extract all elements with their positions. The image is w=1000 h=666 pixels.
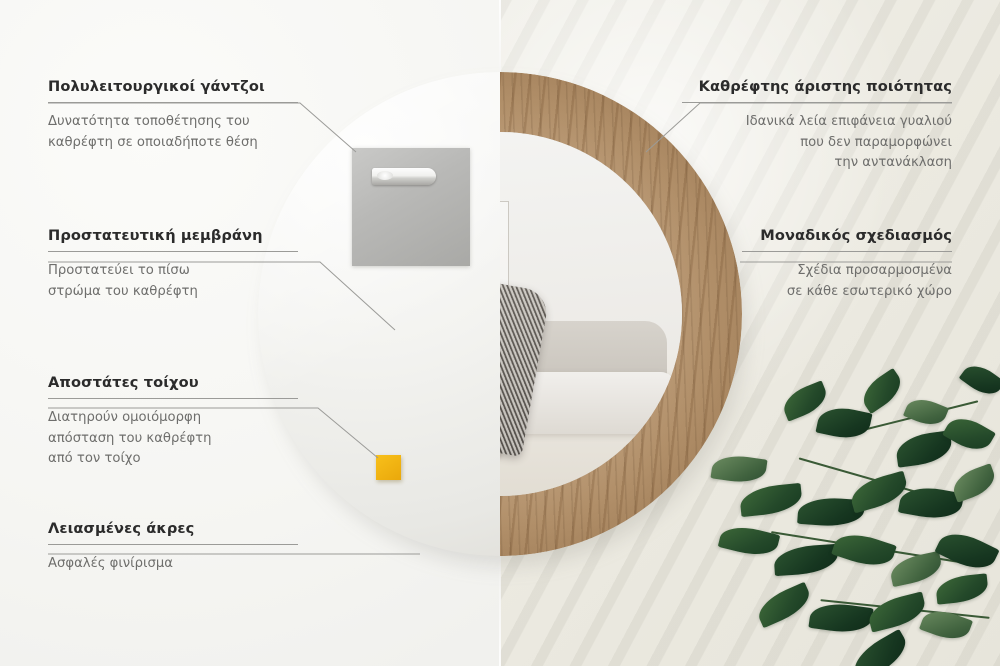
leaf (903, 393, 949, 430)
leaf (935, 573, 989, 604)
callout-rule (48, 251, 298, 252)
callout-rule (742, 251, 952, 252)
mirror-product (258, 72, 742, 556)
leaf (815, 403, 872, 443)
leaf (718, 521, 781, 560)
mirror-glass (500, 132, 682, 496)
hook-detail-patch (352, 148, 470, 266)
callout-rule (48, 544, 298, 545)
callout-title: Μοναδικός σχεδιασμός (742, 227, 952, 244)
callout-description: Δυνατότητα τοποθέτησης τουκαθρέφτη σε οπ… (48, 112, 298, 153)
callout-description: Διατηρούν ομοιόμορφηαπόσταση του καθρέφτ… (48, 408, 298, 470)
leaf (959, 359, 1000, 402)
callout-title: Λειασμένες άκρες (48, 520, 298, 537)
callout-description: Προστατεύει το πίσωστρώμα του καθρέφτη (48, 261, 298, 302)
mirror-body (258, 72, 742, 556)
leaf (831, 527, 897, 572)
wall-spacer-marker (376, 455, 401, 480)
leaf (888, 551, 944, 587)
callout-protective-membrane: Προστατευτική μεμβράνη Προστατεύει το πί… (48, 227, 298, 302)
leaf (856, 368, 907, 414)
callout-title: Καθρέφτης άριστης ποιότητας (682, 78, 952, 95)
callout-multifunctional-hooks: Πολυλειτουργικοί γάντζοι Δυνατότητα τοπο… (48, 78, 298, 153)
leaf (739, 483, 804, 517)
callout-description: Σχέδια προσαρμοσμένασε κάθε εσωτερικό χώ… (742, 261, 952, 302)
callout-top-quality-mirror: Καθρέφτης άριστης ποιότητας Ιδανικά λεία… (682, 78, 952, 174)
callout-polished-edges: Λειασμένες άκρες Ασφαλές φινίρισμα (48, 520, 298, 575)
decorative-foliage (700, 360, 1000, 666)
wall-hook-icon (372, 168, 436, 185)
callout-rule (48, 398, 298, 399)
leaf (942, 410, 996, 457)
callout-description: Ασφαλές φινίρισμα (48, 554, 298, 575)
leaf (773, 544, 839, 576)
leaf (949, 463, 999, 502)
callout-title: Αποστάτες τοίχου (48, 374, 298, 391)
leaf (710, 452, 767, 485)
infographic-canvas: Πολυλειτουργικοί γάντζοι Δυνατότητα τοπο… (0, 0, 1000, 666)
callout-rule (682, 102, 952, 103)
callout-title: Προστατευτική μεμβράνη (48, 227, 298, 244)
leaf (934, 525, 999, 577)
callout-wall-spacers: Αποστάτες τοίχου Διατηρούν ομοιόμορφηαπό… (48, 374, 298, 470)
callout-unique-design: Μοναδικός σχεδιασμός Σχέδια προσαρμοσμέν… (742, 227, 952, 302)
leaf (753, 582, 815, 629)
callout-rule (48, 102, 298, 103)
leaf (847, 629, 913, 666)
callout-description: Ιδανικά λεία επιφάνεια γυαλιούπου δεν πα… (682, 112, 952, 174)
callout-title: Πολυλειτουργικοί γάντζοι (48, 78, 298, 95)
